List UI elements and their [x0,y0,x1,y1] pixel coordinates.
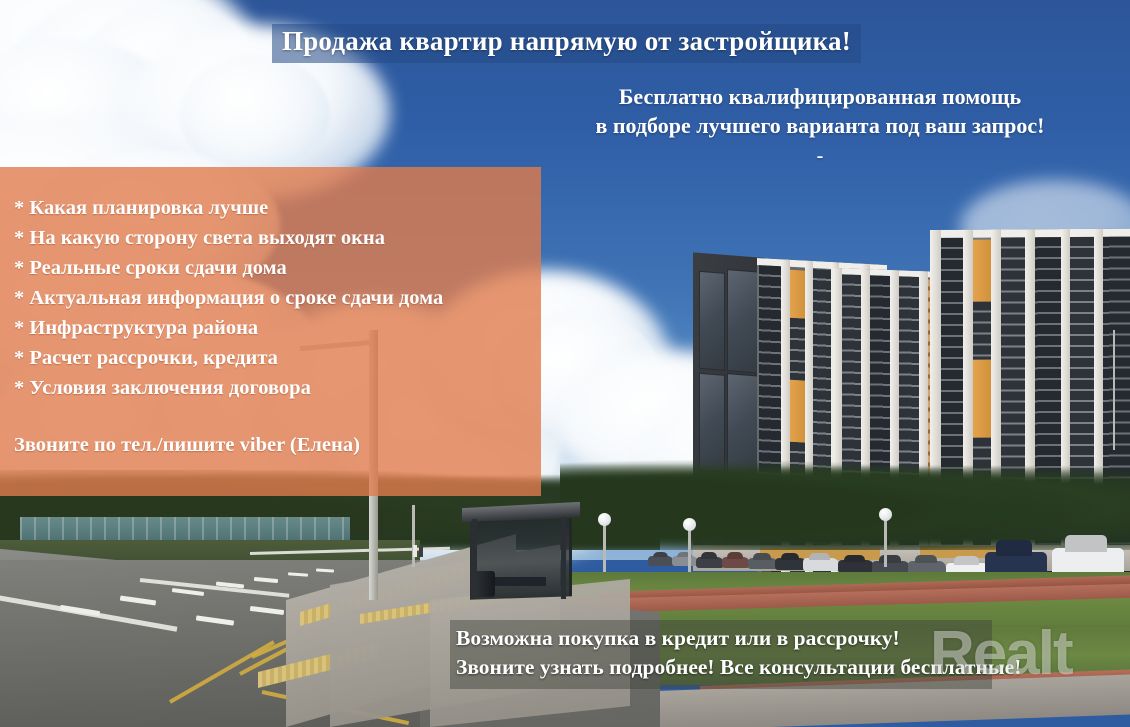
offer-bullet-item: * Инфраструктура района [14,313,443,343]
poster-image: Продажа квартир напрямую от застройщика!… [0,0,1130,727]
offer-bullet-item: * Условия заключения договора [14,373,443,403]
lamp-head-d [879,508,892,521]
offer-card: * Какая планировка лучше * На какую стор… [0,167,541,496]
realt-watermark: Realt [930,618,1072,689]
offer-bullet-item: * Актуальная информация о сроке сдачи до… [14,283,443,313]
pedestrian-b [419,546,423,557]
offer-bullet-list: * Какая планировка лучше * На какую стор… [14,193,443,403]
bus-stop-shelter [462,505,580,605]
subtitle-line-2: в подборе лучшего варианта под ваш запро… [560,111,1080,140]
treeline-right [560,460,1130,550]
bottom-banner-line-2: Звоните узнать подробнее! Все консультац… [456,653,986,682]
offer-bullet-item: * Какая планировка лучше [14,193,443,223]
bottom-banner-line-1: Возможна покупка в кредит или в рассрочк… [456,624,986,653]
lamp-post-b [603,520,606,572]
antenna-pole [1113,330,1115,450]
lamp-post-d [884,515,887,567]
lamp-post-c [688,524,691,572]
lamp-head-b [598,513,611,526]
subtitle-block: Бесплатно квалифицированная помощь в под… [560,82,1080,169]
subtitle-line-1: Бесплатно квалифицированная помощь [560,82,1080,111]
lamp-post-a [412,505,415,567]
lamp-head-c [683,518,696,531]
pedestrian-a [413,545,417,557]
page-title: Продажа квартир напрямую от застройщика! [272,24,861,63]
offer-bullet-item: * Реальные сроки сдачи дома [14,253,443,283]
contact-note: Звоните по тел./пишите viber (Елена) [14,434,360,457]
offer-bullet-item: * На какую сторону света выходят окна [14,223,443,253]
subtitle-dash: - [560,143,1080,170]
offer-bullet-item: * Расчет рассрочки, кредита [14,343,443,373]
bottom-callout-banner: Возможна покупка в кредит или в рассрочк… [450,620,992,689]
